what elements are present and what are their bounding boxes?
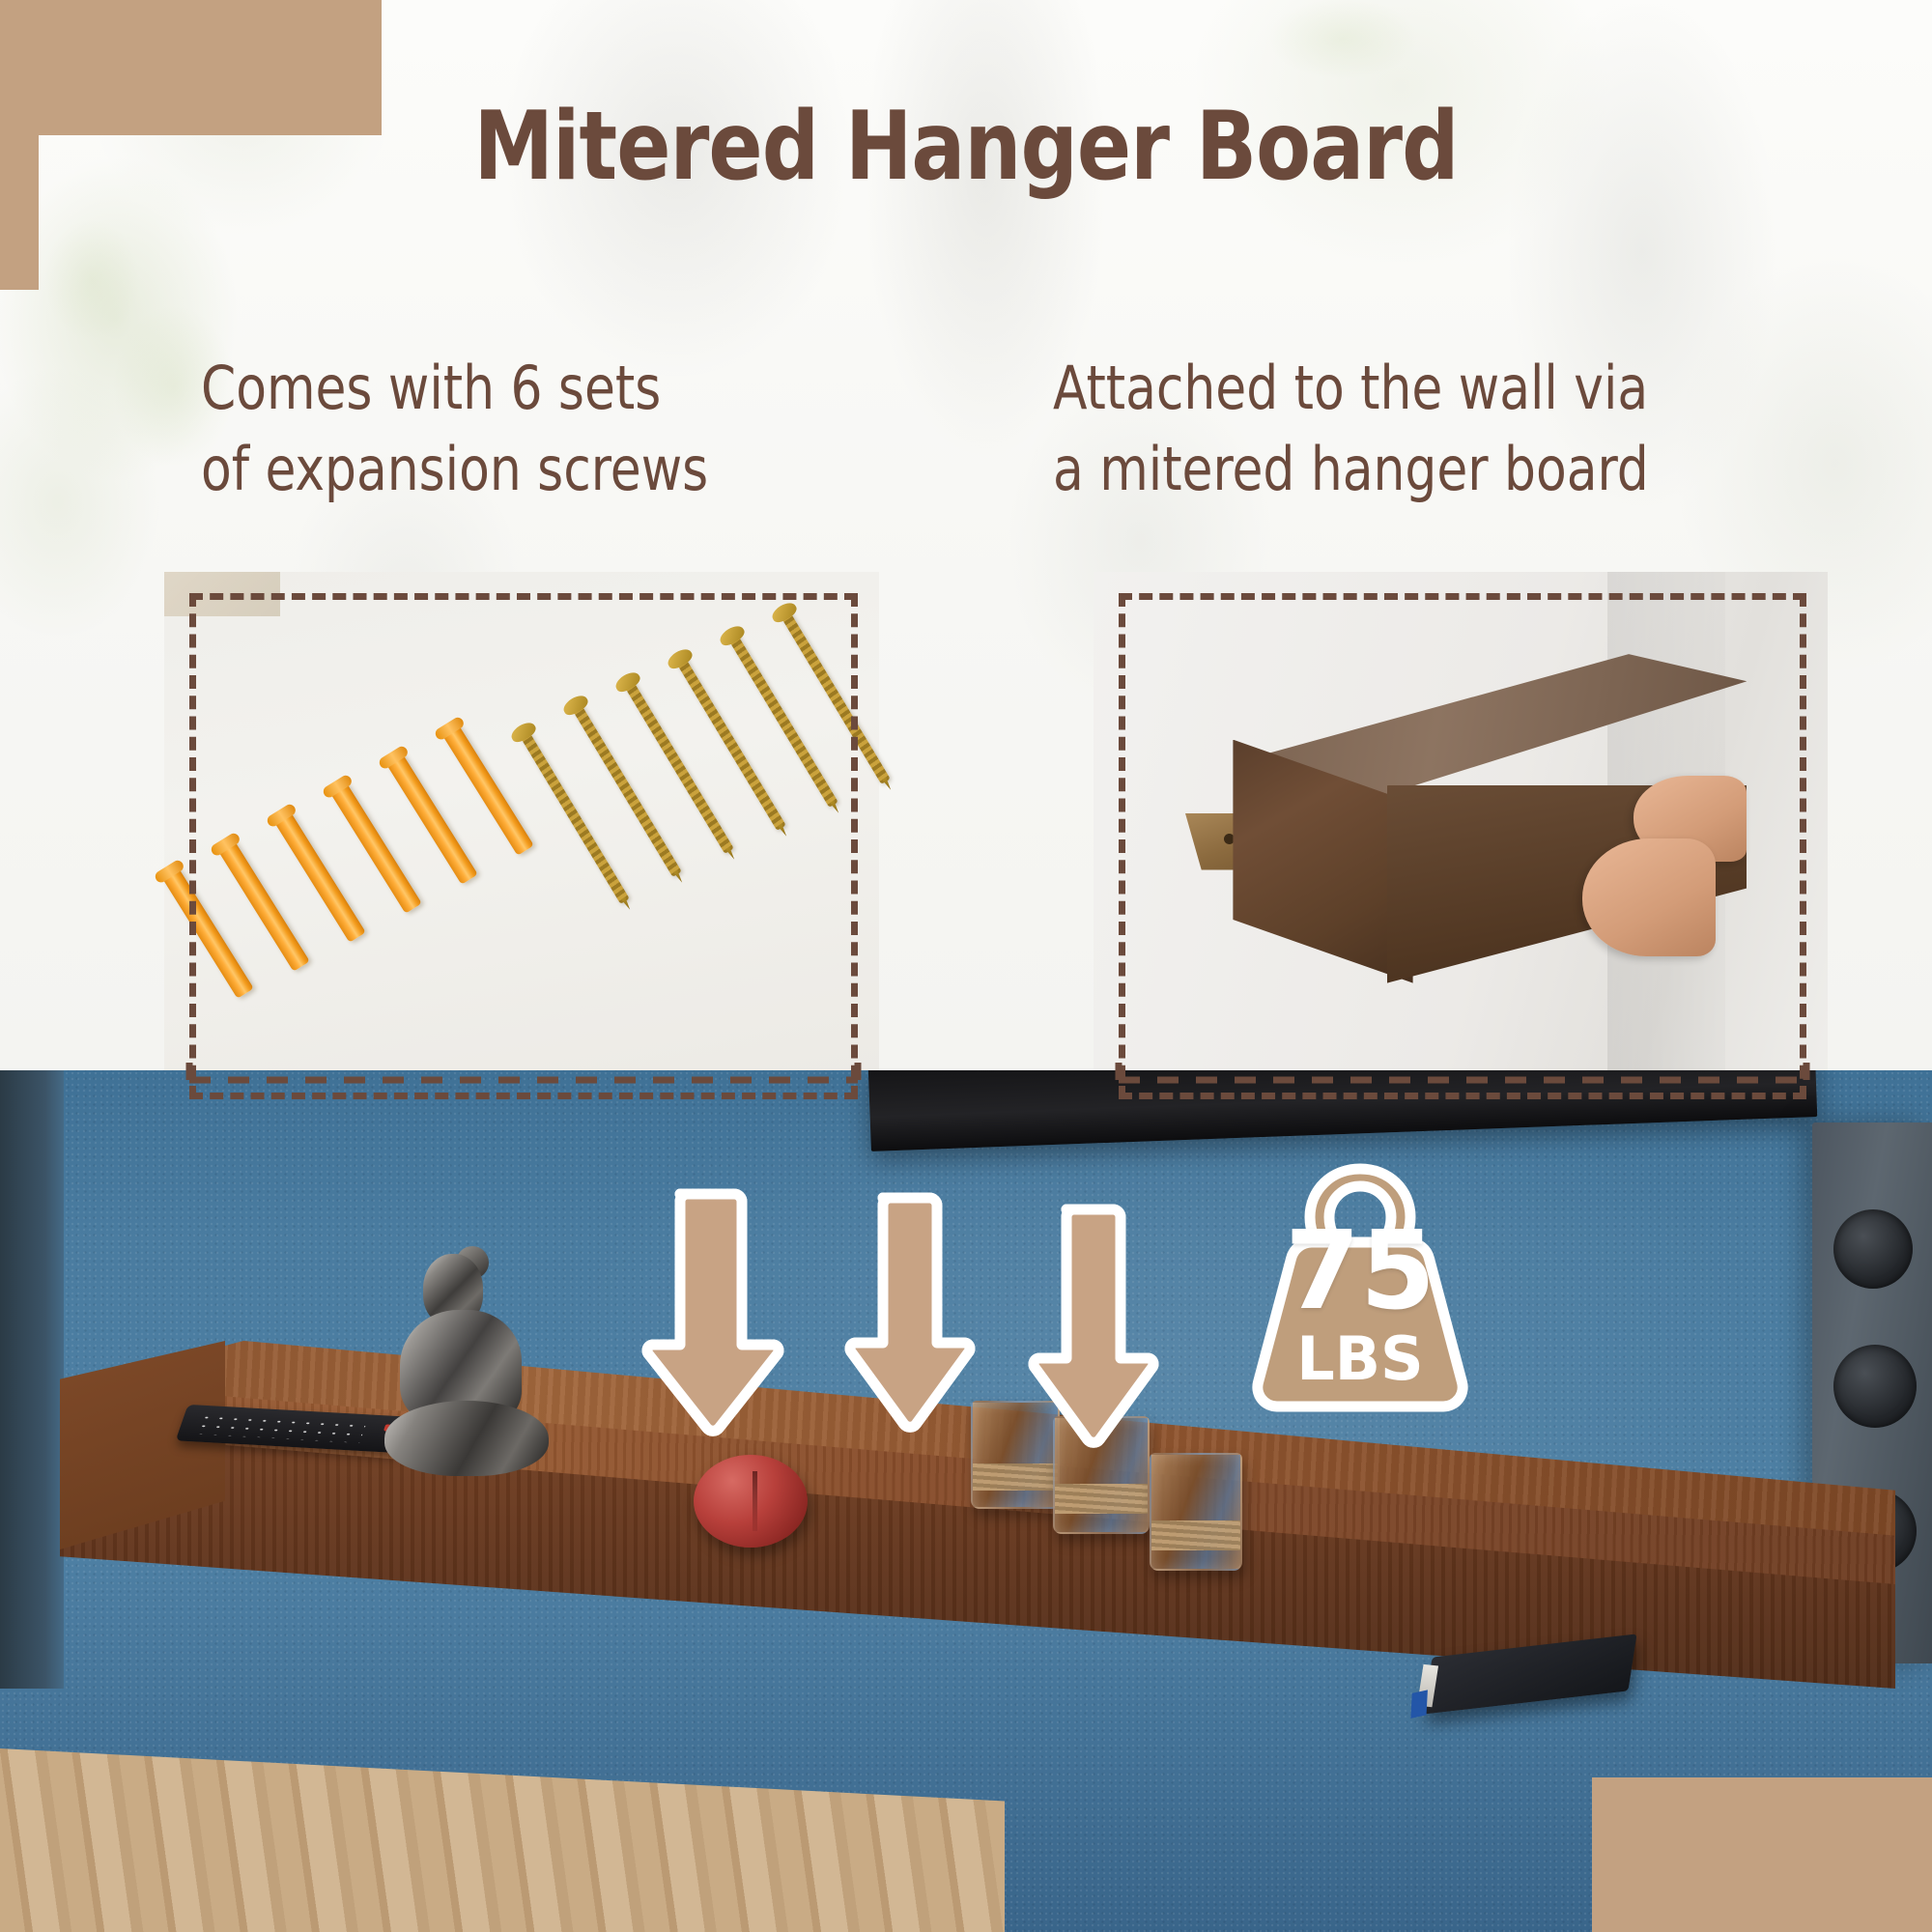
feature-photo-expansion-screws [164, 572, 879, 1086]
red-glass-ball [694, 1455, 808, 1548]
screws-photo-background [164, 572, 879, 1086]
floating-shelf-3d [1233, 654, 1747, 982]
caption-line-1: Comes with 6 sets [201, 348, 884, 429]
screw [621, 676, 734, 854]
buddha-statue [384, 1254, 549, 1476]
candle-jar [1150, 1453, 1242, 1571]
hand-lower [1582, 838, 1716, 957]
screw [569, 699, 682, 877]
caption-line-2: a mitered hanger board [1053, 429, 1861, 510]
screw [778, 607, 891, 784]
weight-unit: LBS [1229, 1329, 1492, 1389]
screw [725, 630, 838, 808]
speaker-driver [1833, 1209, 1913, 1289]
corner-accent-bottom-right [1592, 1777, 1932, 1932]
install-photo-background [1094, 572, 1828, 1086]
downward-load-arrow [833, 1190, 980, 1434]
feature-caption-hanger-board: Attached to the wall via a mitered hange… [1053, 348, 1861, 509]
caption-line-1: Attached to the wall via [1053, 348, 1861, 429]
weight-capacity-badge: 75 LBS [1229, 1159, 1492, 1416]
page-title: Mitered Hanger Board [58, 92, 1874, 202]
feature-photo-hanger-board [1094, 572, 1828, 1086]
wall-left-edge [0, 1070, 64, 1689]
downward-load-arrow [1016, 1202, 1163, 1449]
caption-line-2: of expansion screws [201, 429, 884, 510]
weight-value: 75 [1229, 1217, 1492, 1325]
product-infographic: Mitered Hanger Board Comes with 6 sets o… [0, 0, 1932, 1932]
downward-load-arrow [626, 1186, 788, 1439]
screw [673, 653, 786, 831]
feature-caption-expansion-screws: Comes with 6 sets of expansion screws [201, 348, 884, 509]
screw [517, 726, 630, 904]
corner-accent-top-left-vertical [0, 0, 39, 290]
statue-legs [384, 1401, 549, 1476]
